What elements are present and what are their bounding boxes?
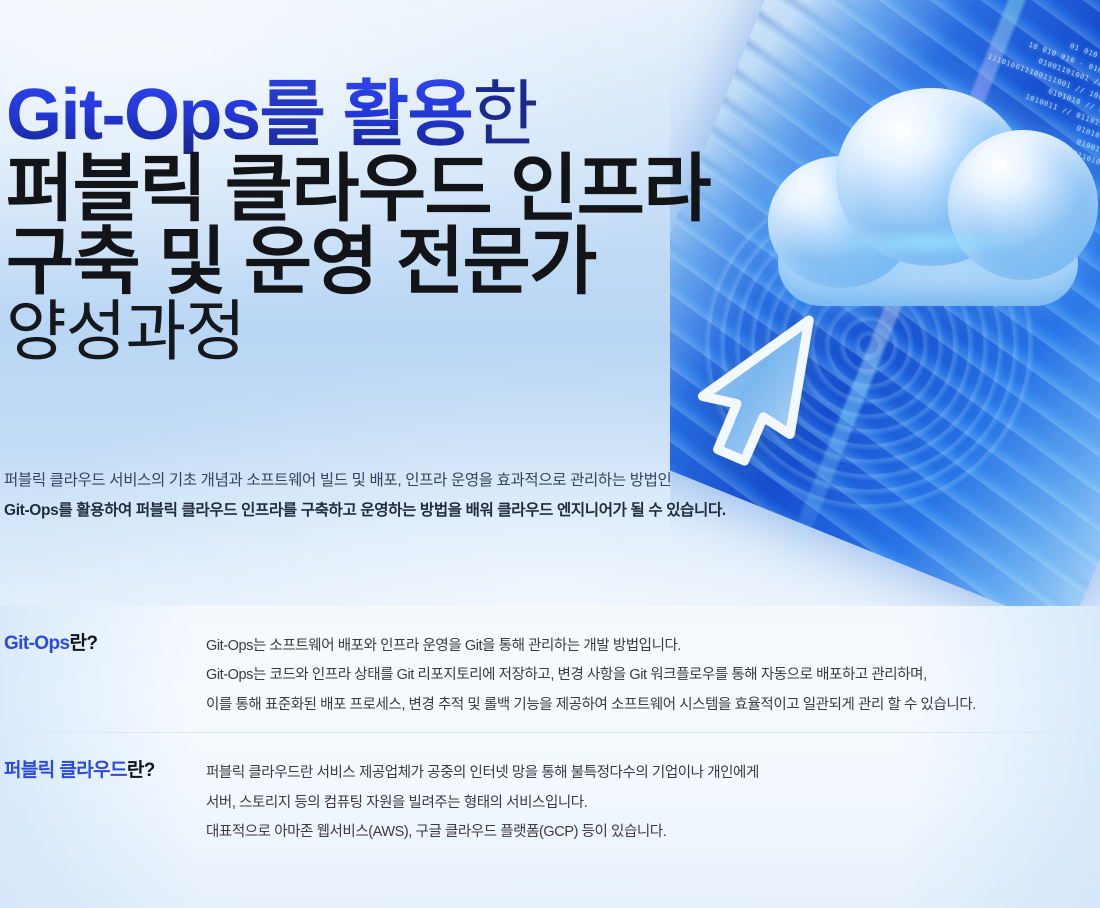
title-line-3: 구축 및 운영 전문가	[6, 228, 710, 297]
definition-body-public-cloud: 퍼블릭 클라우드란 서비스 제공업체가 공중의 인터넷 망을 통해 불특정다수의…	[206, 759, 1100, 847]
title-line-4: 양성과정	[6, 301, 710, 362]
definition-row-public-cloud: 퍼블릭 클라우드란? 퍼블릭 클라우드란 서비스 제공업체가 공중의 인터넷 망…	[0, 732, 1100, 847]
definition-label-gitops: Git-Ops란?	[0, 632, 206, 720]
hero-artwork: 01 010 // 1001 10 010 010 - 0101 1101 01…	[670, 0, 1100, 606]
page-title: Git-Ops를 활용한 퍼블릭 클라우드 인프라 구축 및 운영 전문가 양성…	[6, 82, 710, 362]
hero-subtitle: 퍼블릭 클라우드 서비스의 기초 개념과 소프트웨어 빌드 및 배포, 인프라 …	[4, 466, 726, 526]
title-hwaryong: 활용	[343, 75, 472, 155]
definitions-section: Git-Ops란? Git-Ops는 소프트웨어 배포와 인프라 운영을 Git…	[0, 606, 1100, 908]
definition-line: 서버, 스토리지 등의 컴퓨팅 자원을 빌려주는 형태의 서비스입니다.	[206, 789, 1096, 818]
definition-line: Git-Ops는 소프트웨어 배포와 인프라 운영을 Git을 통해 관리하는 …	[206, 632, 1096, 661]
definition-line: 이를 통해 표준화된 배포 프로세스, 변경 추적 및 롤백 기능을 제공하여 …	[206, 691, 1096, 720]
course-landing-page: 01 010 // 1001 10 010 010 - 0101 1101 01…	[0, 0, 1100, 908]
hero-section: 01 010 // 1001 10 010 010 - 0101 1101 01…	[0, 0, 1100, 606]
label-suffix: 란?	[127, 760, 155, 781]
definition-line: 대표적으로 아마존 웹서비스(AWS), 구글 클라우드 플랫폼(GCP) 등이…	[206, 818, 1096, 847]
definition-label-public-cloud: 퍼블릭 클라우드란?	[0, 759, 206, 847]
definition-body-gitops: Git-Ops는 소프트웨어 배포와 인프라 운영을 Git을 통해 관리하는 …	[206, 632, 1100, 720]
cloud-glow	[784, 226, 1074, 260]
title-gitops: Git-Ops	[6, 75, 260, 155]
definition-row-gitops: Git-Ops란? Git-Ops는 소프트웨어 배포와 인프라 운영을 Git…	[0, 606, 1100, 720]
definition-line: 퍼블릭 클라우드란 서비스 제공업체가 공중의 인터넷 망을 통해 불특정다수의…	[206, 759, 1096, 788]
hero-copy: Git-Ops를 활용한 퍼블릭 클라우드 인프라 구축 및 운영 전문가 양성…	[0, 0, 710, 362]
title-particle-reul: 를	[260, 75, 325, 155]
subtitle-line-2: Git-Ops를 활용하여 퍼블릭 클라우드 인프라를 구축하고 운영하는 방법…	[4, 496, 726, 526]
label-term: 퍼블릭 클라우드	[4, 760, 127, 781]
label-suffix: 란?	[69, 633, 97, 654]
subtitle-line-1: 퍼블릭 클라우드 서비스의 기초 개념과 소프트웨어 빌드 및 배포, 인프라 …	[4, 466, 726, 496]
label-term: Git-Ops	[4, 633, 69, 654]
title-han: 한	[472, 75, 537, 155]
title-line-2: 퍼블릭 클라우드 인프라	[6, 155, 710, 224]
title-line-1: Git-Ops를 활용한	[6, 82, 710, 149]
definition-line: Git-Ops는 코드와 인프라 상태를 Git 리포지토리에 저장하고, 변경…	[206, 661, 1096, 690]
